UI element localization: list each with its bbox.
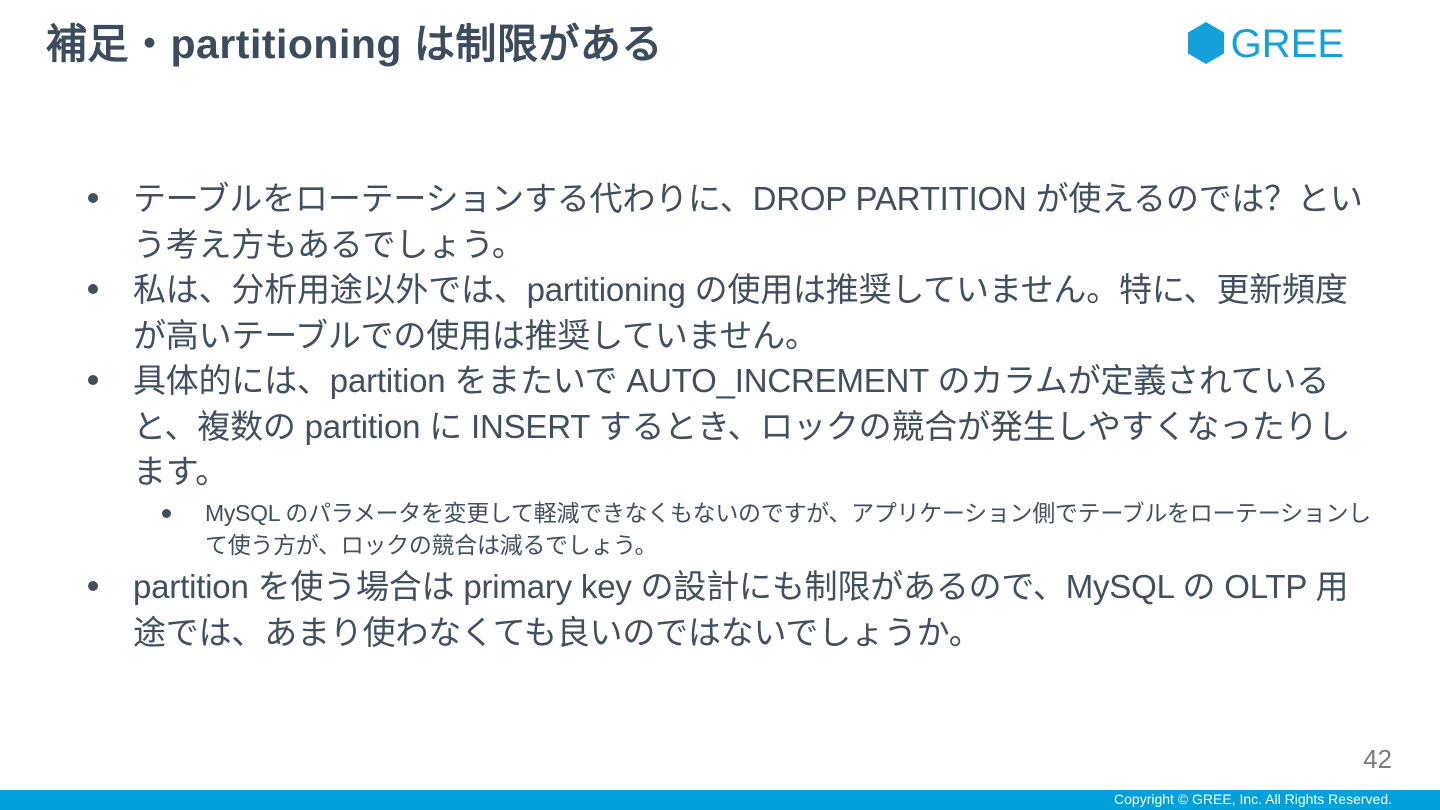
bullet-dot-icon xyxy=(88,375,98,385)
bullet-text: テーブルをローテーションする代わりに、DROP PARTITION が使えるので… xyxy=(133,180,1363,263)
list-item: partition を使う場合は primary key の設計にも制限があるの… xyxy=(80,564,1380,655)
list-item: 具体的には、partition をまたいで AUTO_INCREMENT のカラ… xyxy=(80,358,1380,562)
bullet-text: 私は、分析用途以外では、partitioning の使用は推奨していません。特に… xyxy=(133,271,1348,354)
bullet-dot-icon xyxy=(162,509,171,518)
bullet-dot-icon xyxy=(88,581,98,591)
list-item: テーブルをローテーションする代わりに、DROP PARTITION が使えるので… xyxy=(80,176,1380,267)
sub-list-item: MySQL のパラメータを変更して軽減できなくもないのですが、アプリケーション側… xyxy=(133,497,1380,562)
copyright-text: Copyright © GREE, Inc. All Rights Reserv… xyxy=(1114,790,1392,809)
page-number: 42 xyxy=(1363,746,1392,772)
list-item: 私は、分析用途以外では、partitioning の使用は推奨していません。特に… xyxy=(80,267,1380,358)
bullet-list: テーブルをローテーションする代わりに、DROP PARTITION が使えるので… xyxy=(80,176,1380,655)
bullet-text: partition を使う場合は primary key の設計にも制限があるの… xyxy=(133,568,1348,651)
hexagon-icon xyxy=(1187,22,1225,64)
brand-name: GREE xyxy=(1231,24,1344,64)
footer-bar: Copyright © GREE, Inc. All Rights Reserv… xyxy=(0,790,1440,810)
bullet-text: 具体的には、partition をまたいで AUTO_INCREMENT のカラ… xyxy=(133,362,1350,490)
sub-bullet-text: MySQL のパラメータを変更して軽減できなくもないのですが、アプリケーション側… xyxy=(205,500,1371,559)
bullet-dot-icon xyxy=(88,284,98,294)
page-title: 補足・partitioning は制限がある xyxy=(46,18,663,71)
sub-bullet-list: MySQL のパラメータを変更して軽減できなくもないのですが、アプリケーション側… xyxy=(133,497,1380,562)
slide: 補足・partitioning は制限がある GREE テーブルをローテーション… xyxy=(0,0,1440,810)
gree-logo: GREE xyxy=(1187,22,1344,64)
bullet-dot-icon xyxy=(88,193,98,203)
slide-body: テーブルをローテーションする代わりに、DROP PARTITION が使えるので… xyxy=(80,176,1380,655)
